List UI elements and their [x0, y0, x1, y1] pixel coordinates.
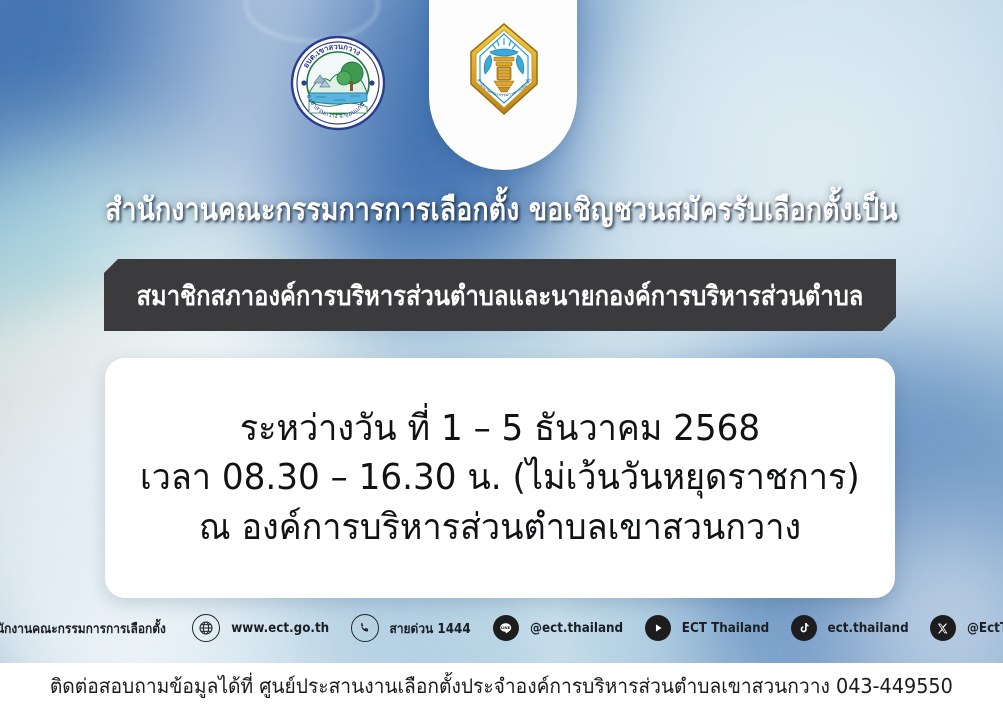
- social-link-x[interactable]: @EctThailand: [930, 615, 1003, 641]
- line-icon: LINE: [493, 615, 519, 641]
- social-link-facebook[interactable]: สำนักงานคณะกรรมการการเลือกตั้ง: [0, 615, 174, 641]
- tiktok-icon: [791, 615, 817, 641]
- youtube-play-icon: [645, 615, 671, 641]
- ect-thailand-emblem: สำนักงานคณะกรรมการการเลือกตั้ง: [467, 22, 541, 116]
- detail-line-hours: เวลา 08.30 – 16.30 น. (ไม่เว้นวันหยุดราช…: [140, 454, 860, 502]
- x-twitter-icon: [930, 615, 956, 641]
- social-link-website[interactable]: www.ect.go.th: [192, 614, 333, 642]
- position-banner: สมาชิกสภาองค์การบริหารส่วนตำบลและนายกองค…: [104, 259, 896, 331]
- social-label-line: @ect.thailand: [530, 621, 623, 636]
- social-link-youtube[interactable]: ECT Thailand: [645, 615, 773, 641]
- globe-icon: [192, 614, 220, 642]
- svg-text:LINE: LINE: [501, 625, 511, 629]
- social-link-tiktok[interactable]: ect.thailand: [791, 615, 912, 641]
- social-link-line[interactable]: LINE @ect.thailand: [493, 615, 627, 641]
- phone-icon: [351, 614, 379, 642]
- election-announcement-poster: สำนักงานคณะกรรมการการเลือกตั้ง อบต.เขาสว…: [0, 0, 1003, 663]
- social-label-website: www.ect.go.th: [231, 621, 329, 636]
- position-banner-text: สมาชิกสภาองค์การบริหารส่วนตำบลและนายกองค…: [137, 274, 864, 317]
- contact-caption-strip: ติดต่อสอบถามข้อมูลได้ที่ ศูนย์ประสานงานเ…: [0, 663, 1003, 709]
- social-label-hotline: สายด่วน 1444: [390, 618, 471, 639]
- page-title: สำนักงานคณะกรรมการการเลือกตั้ง ขอเชิญชวน…: [70, 184, 933, 234]
- social-link-hotline[interactable]: สายด่วน 1444: [351, 614, 474, 642]
- detail-line-dates: ระหว่างวัน ที่ 1 – 5 ธันวาคม 2568: [240, 405, 760, 453]
- detail-line-venue: ณ องค์การบริหารส่วนตำบลเขาสวนกวาง: [199, 504, 801, 552]
- social-label-tiktok: ect.thailand: [827, 621, 908, 636]
- khao-suan-kwang-sao-logo: อบต.เขาสวนกวาง อ.เขาสวนกวาง จ.ขอนแก่น: [290, 35, 386, 131]
- social-label-facebook: สำนักงานคณะกรรมการการเลือกตั้ง: [0, 618, 166, 639]
- social-label-youtube: ECT Thailand: [682, 621, 769, 636]
- social-label-x: @EctThailand: [967, 621, 1003, 636]
- details-card: ระหว่างวัน ที่ 1 – 5 ธันวาคม 2568 เวลา 0…: [105, 358, 895, 598]
- social-links-bar: สำนักงานคณะกรรมการการเลือกตั้ง www.ect.g…: [0, 604, 1003, 652]
- contact-caption-text: ติดต่อสอบถามข้อมูลได้ที่ ศูนย์ประสานงานเ…: [50, 670, 953, 702]
